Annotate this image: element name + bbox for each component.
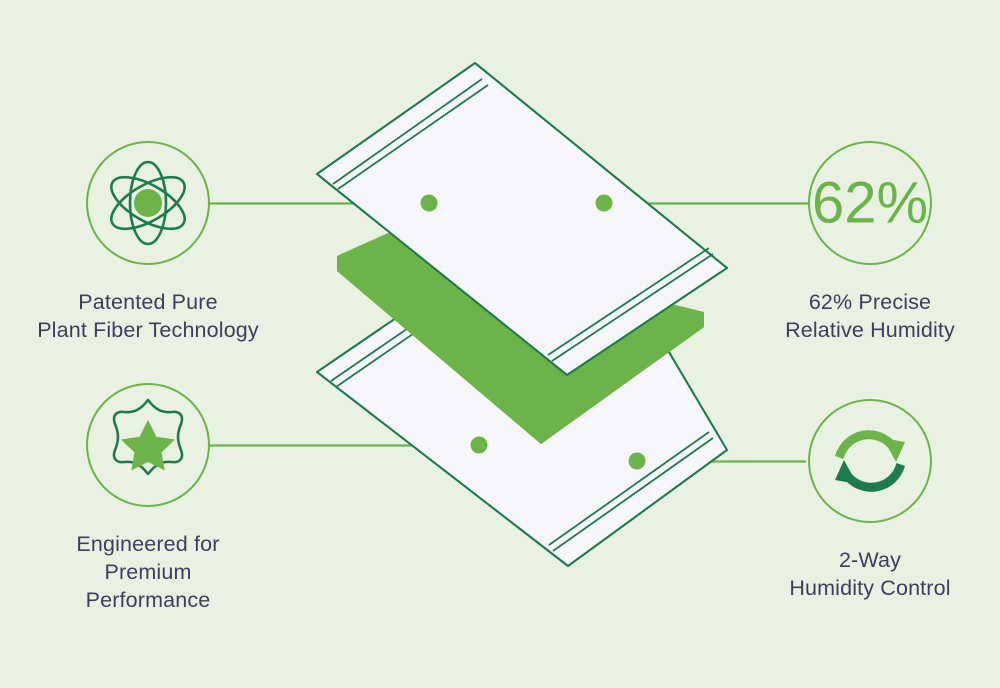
percent-value-text: 62% (812, 171, 928, 236)
percent-value-icon: 62% (807, 140, 933, 266)
atom-nucleus (134, 189, 162, 217)
atom-icon-wrap (85, 140, 211, 266)
cycle-arrow-upper (835, 430, 905, 462)
connector-dot-top-left (421, 195, 438, 212)
connector-dot-bottom-right (629, 453, 646, 470)
feature-label-engineered-premium-performance: Engineered for Premium Performance (0, 530, 298, 614)
two-way-cycle-icon (807, 398, 933, 524)
cycle-arrow-lower (835, 460, 905, 492)
feature-engineered-premium-performance[interactable]: Engineered for Premium Performance (0, 382, 298, 614)
connector-dot-top-right (596, 195, 613, 212)
two-way-cycle-icon-wrap (807, 398, 933, 524)
feature-label-patented-pure-plant-fiber: Patented Pure Plant Fiber Technology (0, 288, 298, 344)
atom-icon (85, 140, 211, 266)
feature-label-precise-relative-humidity: 62% Precise Relative Humidity (720, 288, 1000, 344)
icon-ring (809, 400, 931, 522)
infographic-canvas: Patented Pure Plant Fiber Technology Eng… (0, 0, 1000, 688)
percent-value-icon-wrap: 62% (807, 140, 933, 266)
connector-dot-bottom-left (471, 437, 488, 454)
feature-precise-relative-humidity[interactable]: 62% 62% Precise Relative Humidity (720, 140, 1000, 344)
badge-star-icon (85, 382, 211, 508)
feature-label-two-way-humidity-control: 2-Way Humidity Control (720, 546, 1000, 602)
cycle-arrow-upper-head (883, 438, 905, 462)
feature-two-way-humidity-control[interactable]: 2-Way Humidity Control (720, 398, 1000, 602)
feature-patented-pure-plant-fiber[interactable]: Patented Pure Plant Fiber Technology (0, 140, 298, 344)
cycle-arrow-lower-head (835, 460, 857, 484)
badge-star-icon-wrap (85, 382, 211, 508)
